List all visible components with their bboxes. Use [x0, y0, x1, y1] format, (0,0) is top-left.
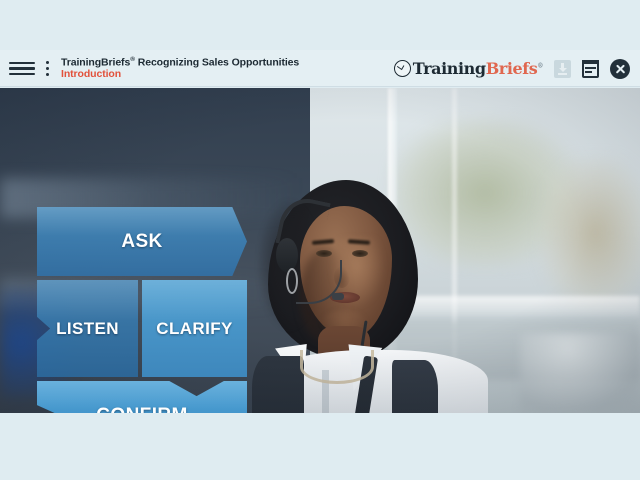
diagram-box-ask-label: ASK: [121, 231, 162, 253]
page-title: TrainingBriefs® Recognizing Sales Opport…: [61, 57, 299, 69]
trainingbriefs-logo: TrainingBriefs®: [394, 59, 543, 78]
kebab-dot: [46, 61, 49, 64]
close-icon: [610, 59, 630, 79]
notes-button[interactable]: [582, 60, 599, 78]
course-title-brand: TrainingBriefs: [61, 56, 130, 68]
logo-word-briefs: Briefs: [486, 59, 538, 78]
hamburger-icon[interactable]: [9, 62, 35, 76]
notes-icon-line: [585, 67, 596, 69]
section-title: Introduction: [61, 69, 299, 80]
hamburger-line: [9, 67, 35, 70]
kebab-menu-icon[interactable]: [42, 61, 52, 76]
slide-stage: ASK LISTEN CLARIFY CONFIRM 1: [0, 88, 640, 413]
notes-icon-header: [582, 60, 599, 64]
diagram-box-clarify-label: CLARIFY: [156, 319, 232, 339]
course-title-text: Recognizing Sales Opportunities: [135, 56, 299, 68]
notes-icon: [582, 60, 599, 78]
download-icon-head: [559, 68, 567, 72]
diagram-box-confirm-label: CONFIRM: [96, 405, 187, 414]
header-actions: TrainingBriefs®: [394, 59, 640, 79]
header-titles: TrainingBriefs® Recognizing Sales Opport…: [61, 57, 299, 81]
download-icon: [554, 60, 571, 78]
hamburger-line: [9, 73, 35, 76]
hamburger-line: [9, 62, 35, 65]
process-flow-diagram: ASK LISTEN CLARIFY CONFIRM: [37, 207, 247, 413]
diagram-box-ask[interactable]: ASK: [37, 207, 247, 276]
box-gloss: [142, 280, 247, 321]
logo-word-training: Training: [413, 59, 486, 78]
kebab-dot: [46, 73, 49, 76]
notes-icon-line: [585, 71, 592, 73]
course-header-bar: TrainingBriefs® Recognizing Sales Opport…: [0, 50, 640, 87]
logo-wordmark: TrainingBriefs®: [413, 59, 543, 78]
download-button[interactable]: [554, 60, 571, 78]
diagram-box-clarify[interactable]: CLARIFY: [142, 280, 247, 377]
diagram-box-listen[interactable]: LISTEN: [37, 280, 138, 377]
download-icon-base: [558, 73, 567, 75]
logo-registered-mark: ®: [537, 63, 543, 70]
diagram-box-confirm[interactable]: CONFIRM: [37, 381, 247, 413]
slide-viewer: TrainingBriefs® Recognizing Sales Opport…: [0, 0, 640, 480]
box-gloss: [37, 280, 138, 321]
diagram-box-listen-label: LISTEN: [56, 319, 119, 339]
close-button[interactable]: [610, 59, 630, 79]
clock-icon: [394, 60, 411, 77]
kebab-dot: [46, 67, 49, 70]
